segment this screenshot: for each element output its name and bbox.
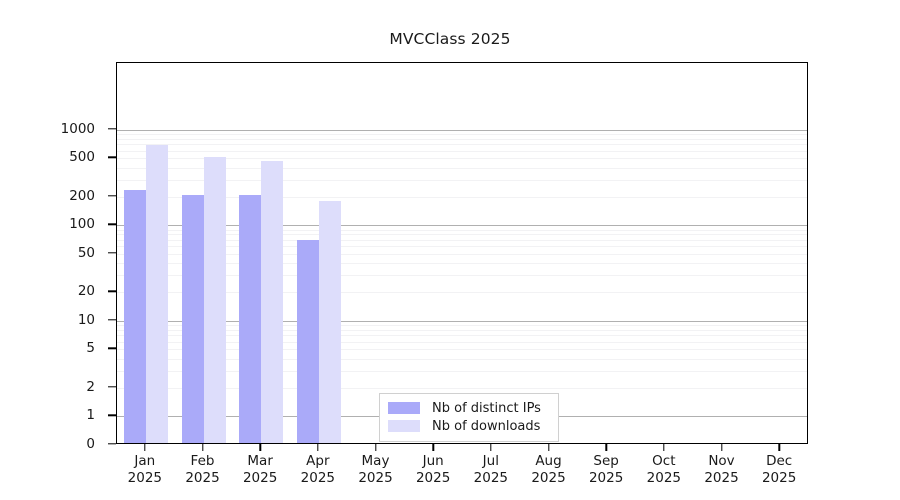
x-tick-label-line: 2025 xyxy=(734,470,824,487)
y-tick-mark xyxy=(108,128,116,129)
x-tick-mark xyxy=(202,444,203,451)
gridline-minor xyxy=(117,144,807,145)
y-tick-label: 50 xyxy=(35,245,95,261)
y-tick-mark xyxy=(108,290,116,291)
x-tick-mark xyxy=(778,444,779,451)
legend-label: Nb of downloads xyxy=(432,419,540,434)
bar-downloads xyxy=(204,157,226,443)
bar-distinct-ips xyxy=(124,190,146,443)
legend-swatch-icon xyxy=(388,402,420,414)
x-tick-mark xyxy=(721,444,722,451)
x-tick-mark xyxy=(259,444,260,451)
chart-legend: Nb of distinct IPsNb of downloads xyxy=(379,393,559,442)
gridline-minor xyxy=(117,134,807,135)
y-tick-mark xyxy=(108,156,116,157)
bar-downloads xyxy=(319,201,341,443)
y-tick-mark xyxy=(108,415,116,416)
y-tick-label: 1 xyxy=(35,407,95,423)
x-tick-mark xyxy=(375,444,376,451)
y-tick-label: 5 xyxy=(35,340,95,356)
gridline-minor xyxy=(117,151,807,152)
x-tick-label: Dec2025 xyxy=(734,453,824,487)
y-tick-mark xyxy=(108,443,116,444)
legend-item-dls[interactable]: Nb of downloads xyxy=(388,417,550,435)
y-tick-label: 20 xyxy=(35,283,95,299)
bar-downloads xyxy=(261,161,283,443)
gridline-major xyxy=(117,130,807,131)
chart-figure: MVCClass 2025 01251020501002005001000 Ja… xyxy=(0,0,900,500)
y-tick-label: 2 xyxy=(35,379,95,395)
y-tick-mark xyxy=(108,224,116,225)
y-tick-mark xyxy=(108,195,116,196)
bar-distinct-ips xyxy=(239,195,261,443)
y-tick-mark xyxy=(108,386,116,387)
bar-distinct-ips xyxy=(182,195,204,443)
y-tick-label: 0 xyxy=(35,436,95,452)
gridline-minor xyxy=(117,139,807,140)
legend-swatch-icon xyxy=(388,420,420,432)
y-tick-mark xyxy=(108,347,116,348)
y-tick-label: 1000 xyxy=(35,121,95,137)
x-tick-mark xyxy=(548,444,549,451)
bar-distinct-ips xyxy=(297,240,319,443)
x-tick-mark xyxy=(144,444,145,451)
bar-downloads xyxy=(146,145,168,443)
y-tick-label: 10 xyxy=(35,312,95,328)
x-tick-label-line: Dec xyxy=(734,453,824,470)
y-tick-mark xyxy=(108,319,116,320)
plot-area xyxy=(116,62,808,444)
x-tick-mark xyxy=(432,444,433,451)
x-tick-mark xyxy=(490,444,491,451)
y-tick-label: 500 xyxy=(35,149,95,165)
chart-title: MVCClass 2025 xyxy=(0,30,900,48)
legend-item-ips[interactable]: Nb of distinct IPs xyxy=(388,399,550,417)
legend-label: Nb of distinct IPs xyxy=(432,401,541,416)
x-tick-mark xyxy=(663,444,664,451)
x-tick-mark xyxy=(605,444,606,451)
x-tick-mark xyxy=(317,444,318,451)
y-tick-mark xyxy=(108,252,116,253)
y-tick-label: 200 xyxy=(35,188,95,204)
y-tick-label: 100 xyxy=(35,216,95,232)
